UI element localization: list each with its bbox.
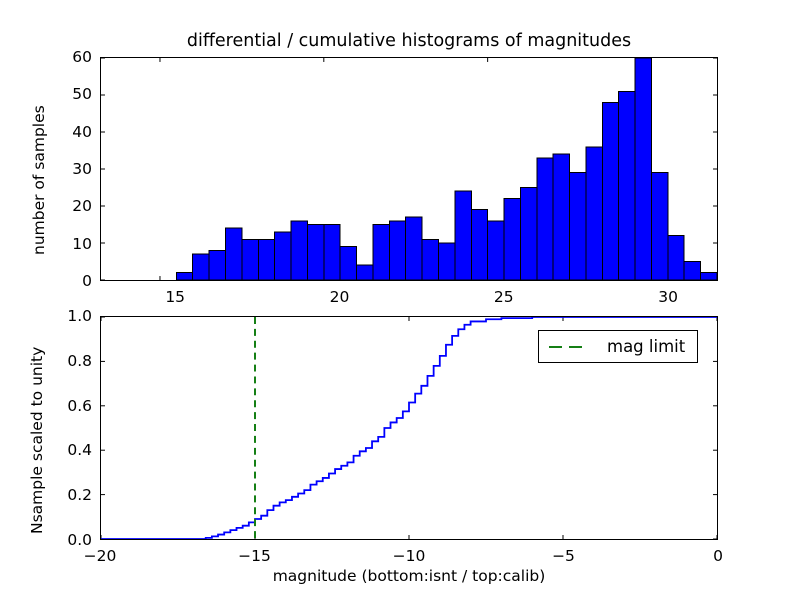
- top-ylabel: number of samples: [30, 105, 48, 255]
- bottom-xtick-0: 0: [713, 547, 723, 565]
- bottom-xtick-minus15: −15: [238, 547, 271, 565]
- top-ytick-0: 0: [50, 272, 92, 290]
- bottom-ytick-1.0: 1.0: [50, 307, 92, 325]
- bottom-xlabel: magnitude (bottom:isnt / top:calib): [100, 567, 718, 585]
- bottom-xtick-minus5: −5: [552, 547, 575, 565]
- top-ytick-40: 40: [50, 123, 92, 141]
- bottom-xtick-minus20: −20: [84, 547, 117, 565]
- bottom-ytick-0.4: 0.4: [50, 441, 92, 459]
- top-xtick-30: 30: [658, 288, 678, 306]
- chart-title: differential / cumulative histograms of …: [100, 30, 718, 52]
- legend: mag limit: [538, 330, 698, 363]
- top-ytick-30: 30: [50, 160, 92, 178]
- top-ytick-60: 60: [50, 48, 92, 66]
- top-ytick-10: 10: [50, 235, 92, 253]
- bottom-ylabel: Nsample scaled to unity: [28, 347, 46, 534]
- bottom-ytick-0.2: 0.2: [50, 486, 92, 504]
- top-ytick-50: 50: [50, 85, 92, 103]
- top-xtick-15: 15: [165, 288, 185, 306]
- top-xtick-25: 25: [494, 288, 514, 306]
- differential-histogram-axes: [100, 57, 718, 281]
- mag-limit-dashed-line-icon: [549, 346, 593, 348]
- bottom-ytick-0.8: 0.8: [50, 352, 92, 370]
- top-xtick-20: 20: [330, 288, 350, 306]
- top-ytick-20: 20: [50, 197, 92, 215]
- figure: differential / cumulative histograms of …: [0, 0, 800, 600]
- bottom-ytick-0.6: 0.6: [50, 397, 92, 415]
- differential-histogram-canvas: [101, 58, 717, 280]
- legend-label-mag-limit: mag limit: [607, 337, 685, 356]
- bottom-xtick-minus10: −10: [393, 547, 426, 565]
